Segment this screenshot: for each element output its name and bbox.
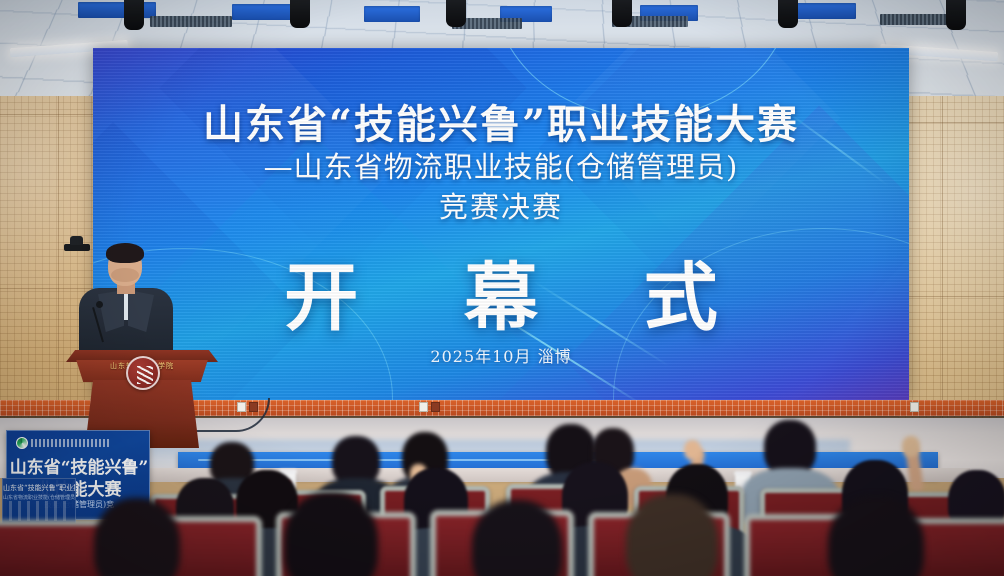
screenshot-root: 山东省“技能兴鲁”职业技能大赛 —山东省物流职业技能(仓储管理员) 竞赛决赛 开…	[0, 0, 1004, 576]
microphone-icon	[96, 301, 103, 308]
stage-spotlight	[778, 0, 798, 28]
rollup-secondary-graphic	[9, 501, 71, 521]
rollup-banner-secondary: 山东省“技能兴鲁”职业技能大赛 山东省物流职业技能(仓储管理员)	[2, 478, 76, 524]
organizer-logo-icon	[16, 437, 28, 449]
podium-and-speaker: 山东轻工职业学院	[62, 246, 222, 446]
stage-spotlight	[290, 0, 310, 28]
competition-title: 山东省“技能兴鲁”职业技能大赛	[93, 92, 909, 150]
audience-head	[626, 494, 718, 576]
ceiling-vent	[78, 2, 156, 18]
organizer-logo-text	[31, 439, 109, 447]
audience-head	[284, 492, 378, 576]
rollup-secondary-subtitle: 山东省物流职业技能(仓储管理员)	[3, 494, 76, 501]
ceiling-vent	[232, 4, 294, 20]
wall-outlet[interactable]	[419, 402, 428, 412]
ceiling-air-grille	[150, 16, 232, 27]
wall-seam	[0, 114, 100, 115]
competition-subtitle-1: —山东省物流职业技能(仓储管理员)	[93, 144, 909, 186]
stage-spotlight	[124, 0, 144, 30]
speaker-hair	[106, 243, 144, 263]
school-crest-icon	[126, 356, 160, 390]
audience-head	[828, 496, 924, 576]
competition-subtitle-2: 竞赛决赛	[93, 184, 909, 226]
audience-hand	[902, 436, 920, 457]
wall-seam	[898, 296, 1004, 297]
stage-spotlight	[946, 0, 966, 30]
stage-spotlight	[612, 0, 632, 27]
stage-spotlight	[446, 0, 466, 27]
ceiling-vent	[364, 6, 420, 22]
rollup-secondary-title: 山东省“技能兴鲁”职业技能大赛	[3, 483, 76, 493]
wall-outlet[interactable]	[431, 402, 440, 412]
speaker-face-shadow	[111, 268, 139, 282]
audience-head	[472, 500, 562, 576]
audience-head	[94, 498, 180, 576]
wall-outlet[interactable]	[910, 402, 919, 412]
wall-seam	[898, 122, 1004, 123]
ceiling-vent	[790, 3, 856, 19]
audience-hand	[684, 440, 701, 460]
